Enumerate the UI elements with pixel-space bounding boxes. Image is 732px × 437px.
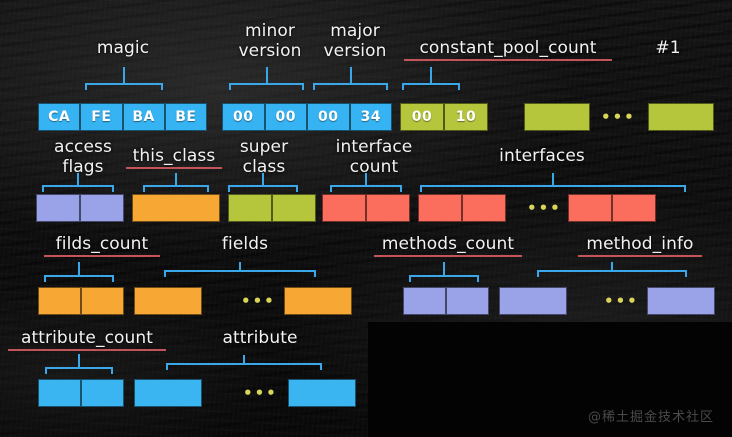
byte-cell[interactable] xyxy=(524,103,590,131)
byte-cell[interactable] xyxy=(81,379,124,407)
group-method-entry-n[interactable] xyxy=(647,287,715,315)
group-field-entry-n[interactable] xyxy=(284,287,352,315)
group-constant-pool-count-bytes[interactable]: 00 10 xyxy=(400,103,488,131)
byte-cell[interactable] xyxy=(648,103,714,131)
group-access-flags-bytes[interactable] xyxy=(36,194,124,222)
ellipsis-interfaces: ••• xyxy=(527,194,562,222)
ellipsis-fields: ••• xyxy=(241,287,276,315)
label-minor-version: minor version xyxy=(225,21,315,61)
group-interface-entry-1[interactable] xyxy=(418,194,506,222)
ellipsis-constant-pool: ••• xyxy=(601,103,636,131)
group-version-bytes[interactable]: 00 00 00 34 xyxy=(222,103,392,131)
group-method-entry-1[interactable] xyxy=(499,287,567,315)
label-access-flags: access flags xyxy=(38,137,128,177)
byte-cell[interactable]: BA xyxy=(123,103,165,131)
byte-cell[interactable] xyxy=(284,287,352,315)
byte-cell[interactable]: 00 xyxy=(400,103,444,131)
byte-cell[interactable]: 00 xyxy=(222,103,265,131)
group-constant-pool-entry-n[interactable] xyxy=(648,103,714,131)
byte-cell[interactable]: 10 xyxy=(444,103,488,131)
group-attribute-count-bytes[interactable] xyxy=(38,379,124,407)
ellipsis-methods: ••• xyxy=(604,287,639,315)
group-interface-entry-n[interactable] xyxy=(568,194,656,222)
byte-cell[interactable] xyxy=(81,287,124,315)
byte-cell[interactable] xyxy=(36,194,80,222)
label-major-version: major version xyxy=(310,21,400,61)
byte-cell[interactable] xyxy=(499,287,567,315)
group-fields-count-bytes[interactable] xyxy=(38,287,124,315)
byte-cell[interactable] xyxy=(612,194,656,222)
byte-cell[interactable] xyxy=(366,194,410,222)
byte-cell[interactable] xyxy=(288,379,356,407)
label-super-class: super class xyxy=(224,137,304,177)
label-fields: fields xyxy=(208,234,282,254)
label-constant-pool-index-1: #1 xyxy=(648,38,688,58)
byte-cell[interactable] xyxy=(446,287,489,315)
label-attribute: attribute xyxy=(212,328,308,348)
label-attribute-count: attribute_count xyxy=(8,328,166,351)
group-field-entry-1[interactable] xyxy=(134,287,202,315)
byte-cell[interactable] xyxy=(322,194,366,222)
byte-cell[interactable] xyxy=(568,194,612,222)
byte-cell[interactable] xyxy=(134,379,202,407)
label-methods-count: methods_count xyxy=(374,234,522,257)
label-constant-pool-count: constant_pool_count xyxy=(404,38,612,61)
label-interfaces: interfaces xyxy=(492,146,592,166)
byte-cell[interactable]: FE xyxy=(80,103,122,131)
byte-cell[interactable] xyxy=(462,194,506,222)
label-method-info: method_info xyxy=(578,234,702,257)
byte-cell[interactable]: BE xyxy=(165,103,207,131)
group-attribute-entry-1[interactable] xyxy=(134,379,202,407)
group-magic-bytes[interactable]: CA FE BA BE xyxy=(38,103,207,131)
byte-cell[interactable] xyxy=(403,287,446,315)
group-constant-pool-entry-1[interactable] xyxy=(524,103,590,131)
group-attribute-entry-n[interactable] xyxy=(288,379,356,407)
byte-cell[interactable] xyxy=(132,194,220,222)
label-this-class: this_class xyxy=(126,146,222,169)
ellipsis-attributes: ••• xyxy=(243,379,278,407)
group-super-class-bytes[interactable] xyxy=(228,194,316,222)
byte-cell[interactable]: CA xyxy=(38,103,80,131)
byte-cell[interactable] xyxy=(134,287,202,315)
byte-cell[interactable]: 00 xyxy=(265,103,308,131)
byte-cell[interactable] xyxy=(80,194,124,222)
byte-cell[interactable]: 00 xyxy=(307,103,350,131)
byte-cell[interactable] xyxy=(647,287,715,315)
byte-cell[interactable] xyxy=(38,379,81,407)
byte-cell[interactable] xyxy=(272,194,316,222)
watermark: @稀土掘金技术社区 xyxy=(588,406,714,425)
byte-cell[interactable] xyxy=(418,194,462,222)
group-interface-count-bytes[interactable] xyxy=(322,194,410,222)
byte-cell[interactable]: 34 xyxy=(350,103,393,131)
group-methods-count-bytes[interactable] xyxy=(403,287,489,315)
byte-cell[interactable] xyxy=(38,287,81,315)
label-fields-count: filds_count xyxy=(44,234,160,257)
byte-cell[interactable] xyxy=(228,194,272,222)
label-interface-count: interface count xyxy=(329,137,419,177)
label-magic: magic xyxy=(73,38,173,58)
group-this-class-bytes[interactable] xyxy=(132,194,220,222)
